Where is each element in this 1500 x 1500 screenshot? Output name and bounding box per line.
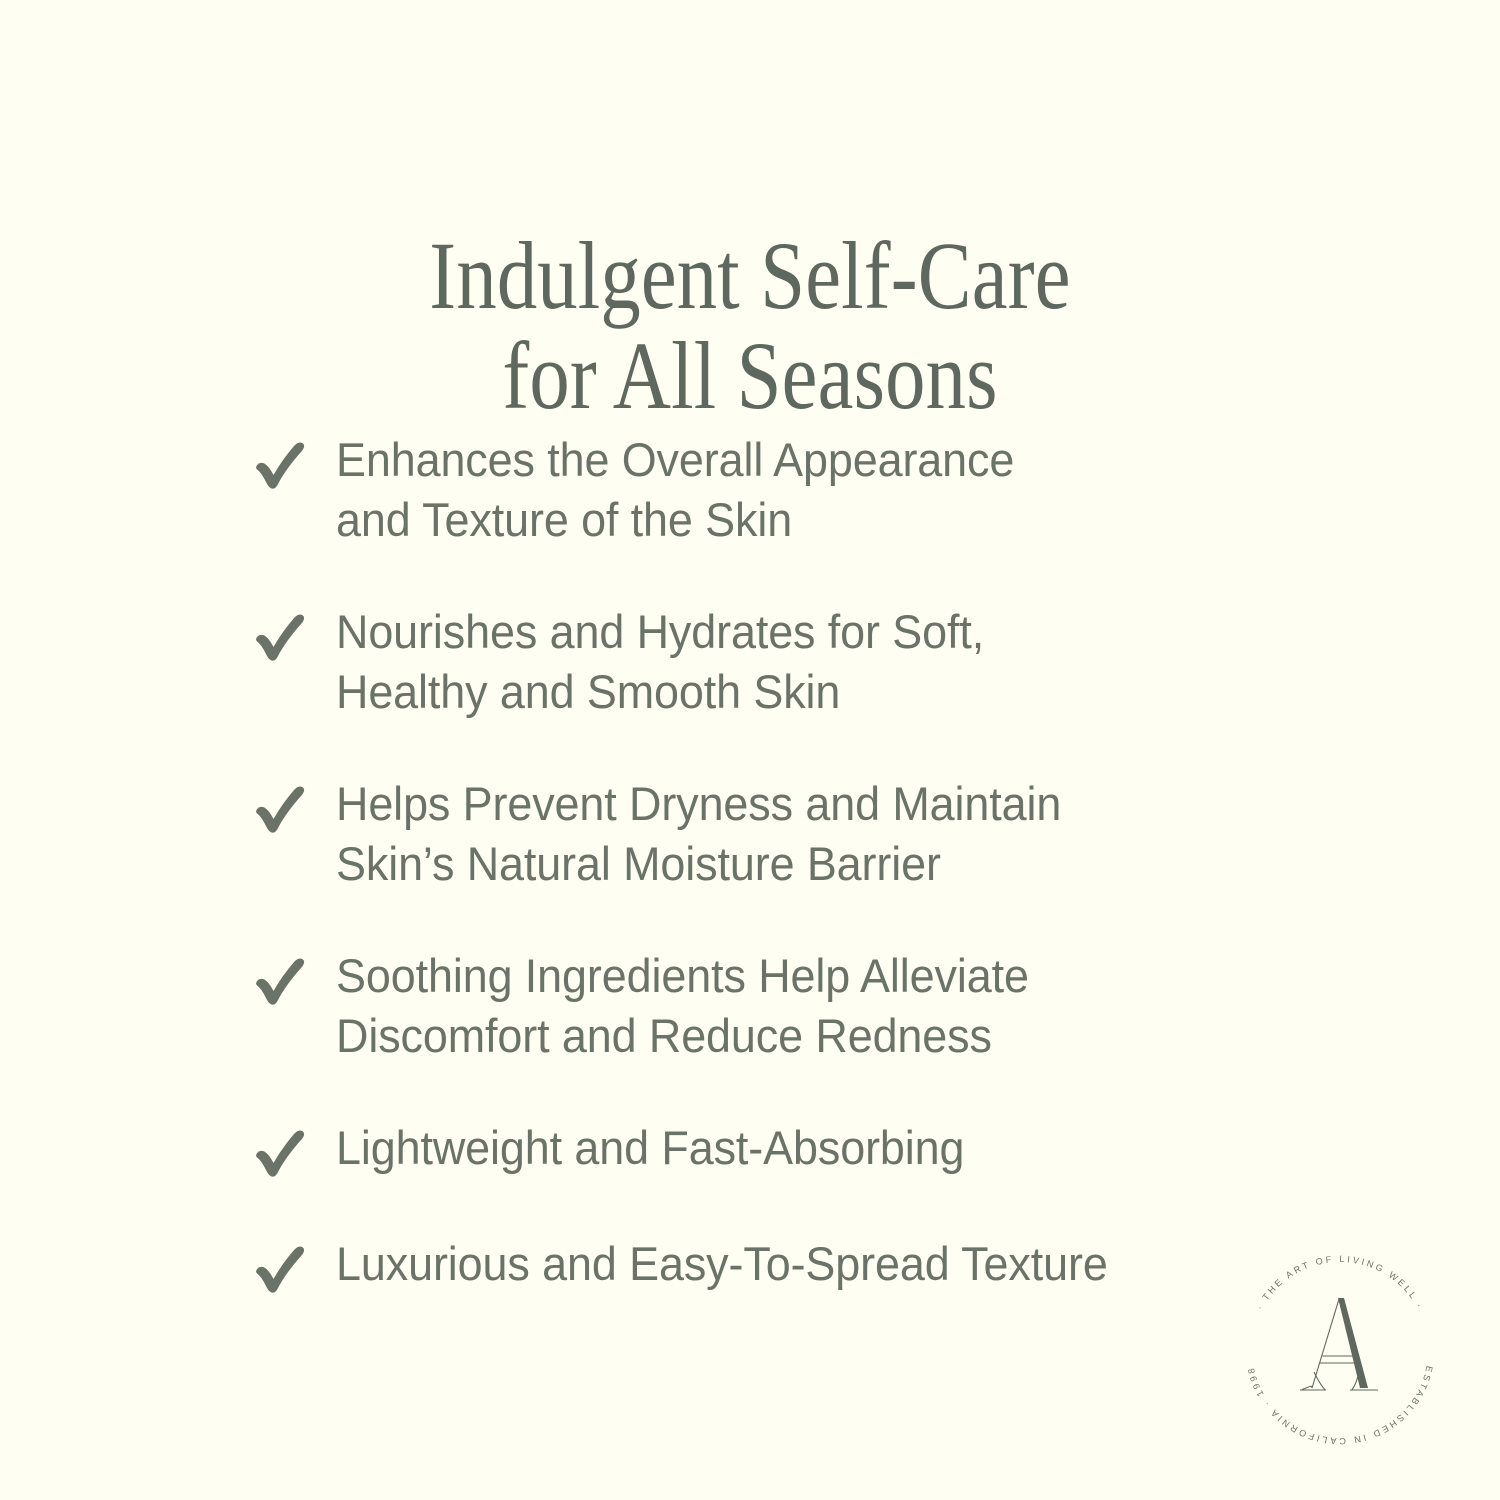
list-item-label: Lightweight and Fast-Absorbing bbox=[336, 1118, 1173, 1178]
list-item-label: Enhances the Overall Appearance and Text… bbox=[336, 430, 1173, 550]
list-item: Nourishes and Hydrates for Soft, Healthy… bbox=[252, 602, 1212, 722]
check-icon bbox=[252, 436, 308, 494]
check-icon bbox=[252, 952, 308, 1010]
list-item: Enhances the Overall Appearance and Text… bbox=[252, 430, 1212, 550]
promo-graphic: Indulgent Self-Care for All Seasons Enha… bbox=[0, 0, 1500, 1500]
check-icon bbox=[252, 1124, 308, 1182]
brand-seal-icon: · THE ART OF LIVING WELL · ESTABLISHED I… bbox=[1228, 1238, 1452, 1462]
seal-monogram-a bbox=[1300, 1298, 1378, 1390]
list-item: Soothing Ingredients Help Alleviate Disc… bbox=[252, 946, 1212, 1066]
list-item: Luxurious and Easy-To-Spread Texture bbox=[252, 1234, 1212, 1298]
list-item-label: Soothing Ingredients Help Alleviate Disc… bbox=[336, 946, 1173, 1066]
brand-seal-logo: · THE ART OF LIVING WELL · ESTABLISHED I… bbox=[1228, 1238, 1452, 1462]
seal-ring-text-bottom: ESTABLISHED IN CALIFORNIA · 1998 bbox=[1245, 1365, 1434, 1446]
check-icon bbox=[252, 608, 308, 666]
list-item: Lightweight and Fast-Absorbing bbox=[252, 1118, 1212, 1182]
list-item: Helps Prevent Dryness and Maintain Skin’… bbox=[252, 774, 1212, 894]
list-item-label: Helps Prevent Dryness and Maintain Skin’… bbox=[336, 774, 1173, 894]
check-icon bbox=[252, 780, 308, 838]
list-item-label: Nourishes and Hydrates for Soft, Healthy… bbox=[336, 602, 1173, 722]
check-icon bbox=[252, 1240, 308, 1298]
list-item-label: Luxurious and Easy-To-Spread Texture bbox=[336, 1234, 1173, 1294]
benefits-list: Enhances the Overall Appearance and Text… bbox=[252, 430, 1212, 1298]
page-title: Indulgent Self-Care for All Seasons bbox=[120, 226, 1380, 426]
